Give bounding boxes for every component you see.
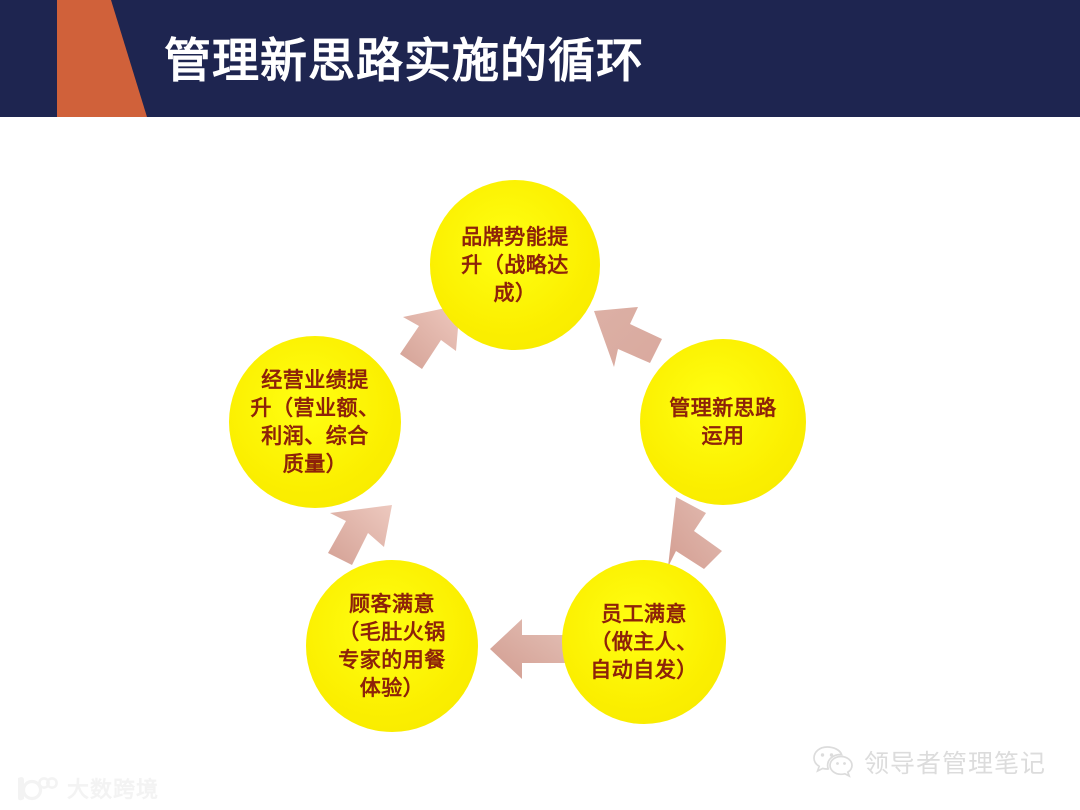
- slide-canvas: 管理新思路实施的循环: [0, 0, 1080, 810]
- wechat-icon: [812, 744, 854, 780]
- cycle-node-brand-label: 品牌势能提 升（战略达 成）: [455, 223, 575, 307]
- watermark-left: 大数跨境: [14, 772, 159, 804]
- cycle-diagram: 品牌势能提 升（战略达 成） 管理新思路 运用 员工满意 （做主人、 自动自发）…: [0, 117, 1080, 810]
- dashu-logo-icon: [14, 774, 58, 802]
- header-bar: 管理新思路实施的循环: [0, 0, 1080, 117]
- cycle-node-method[interactable]: 管理新思路 运用: [640, 339, 806, 505]
- cycle-node-customer[interactable]: 顾客满意 （毛肚火锅 专家的用餐 体验）: [306, 560, 478, 732]
- watermark-left-text: 大数跨境: [67, 772, 159, 804]
- cycle-node-method-label: 管理新思路 运用: [663, 394, 783, 450]
- watermark-right-text: 领导者管理笔记: [864, 744, 1046, 780]
- cycle-node-staff[interactable]: 员工满意 （做主人、 自动自发）: [562, 560, 726, 724]
- watermark-right: 领导者管理笔记: [812, 744, 1046, 780]
- cycle-node-business-label: 经营业绩提 升（营业额、 利润、综合 质量）: [245, 366, 386, 479]
- cycle-node-brand[interactable]: 品牌势能提 升（战略达 成）: [430, 180, 600, 350]
- page-title: 管理新思路实施的循环: [164, 27, 964, 97]
- cycle-node-customer-label: 顾客满意 （毛肚火锅 专家的用餐 体验）: [332, 590, 452, 703]
- cycle-node-business[interactable]: 经营业绩提 升（营业额、 利润、综合 质量）: [229, 336, 401, 508]
- cycle-node-staff-label: 员工满意 （做主人、 自动自发）: [584, 600, 704, 684]
